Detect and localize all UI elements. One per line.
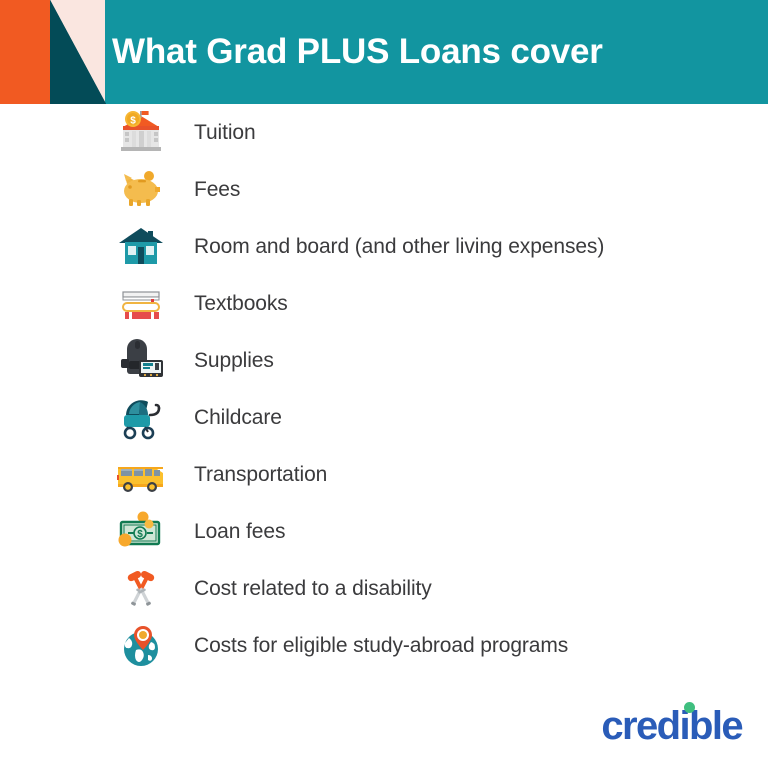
list-item-label: Supplies <box>178 349 274 373</box>
page-title: What Grad PLUS Loans cover <box>112 32 603 72</box>
crossed-crutches-icon <box>104 563 178 615</box>
list-item-label: Childcare <box>178 406 282 430</box>
baby-stroller-icon <box>104 392 178 444</box>
list-item: $ Loan fees <box>0 503 768 560</box>
list-item-label: Fees <box>178 178 240 202</box>
globe-location-pin-icon <box>104 620 178 672</box>
piggy-bank-icon <box>104 164 178 216</box>
backpack-laptop-icon <box>104 335 178 387</box>
credible-logo-dot-icon <box>684 702 695 713</box>
bank-building-icon: $ <box>104 107 178 159</box>
list-item-label: Cost related to a disability <box>178 577 432 601</box>
list-item-label: Room and board (and other living expense… <box>178 235 604 259</box>
header-banner: What Grad PLUS Loans cover <box>0 0 768 104</box>
list-item-label: Textbooks <box>178 292 288 316</box>
list-item-label: Loan fees <box>178 520 285 544</box>
credible-logo[interactable]: credible <box>601 704 742 749</box>
stacked-books-icon <box>104 278 178 330</box>
list-item: Room and board (and other living expense… <box>0 218 768 275</box>
list-item-label: Tuition <box>178 121 256 145</box>
credible-logo-text: credible <box>601 704 742 749</box>
svg-text:$: $ <box>137 529 143 540</box>
list-item: Supplies <box>0 332 768 389</box>
list-item: Transportation <box>0 446 768 503</box>
school-bus-icon <box>104 449 178 501</box>
list-item: $ Tuition <box>0 104 768 161</box>
list-item: Textbooks <box>0 275 768 332</box>
list-item: Fees <box>0 161 768 218</box>
list-item-label: Transportation <box>178 463 327 487</box>
list-item-label: Costs for eligible study-abroad programs <box>178 634 568 658</box>
coverage-list: $ Tuition Fees <box>0 104 768 674</box>
corner-dark-teal-diagonal <box>50 0 106 104</box>
list-item: Childcare <box>0 389 768 446</box>
list-item: Costs for eligible study-abroad programs <box>0 617 768 674</box>
list-item: Cost related to a disability <box>0 560 768 617</box>
svg-text:$: $ <box>130 115 136 126</box>
dollar-bill-coins-icon: $ <box>104 506 178 558</box>
house-icon <box>104 221 178 273</box>
